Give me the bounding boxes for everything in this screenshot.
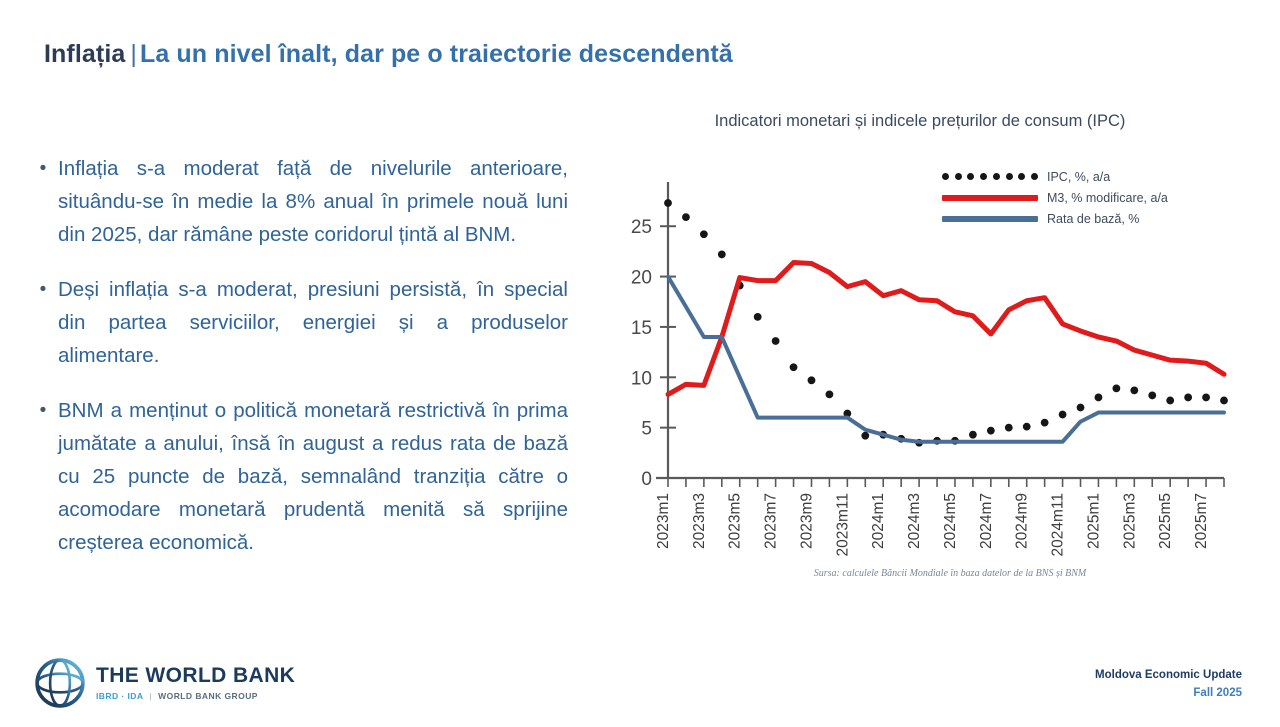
svg-text:2024m3: 2024m3 xyxy=(906,493,923,549)
footer-report-edition: Fall 2025 xyxy=(1095,685,1242,703)
footer-report-title: Moldova Economic Update xyxy=(1095,667,1242,685)
list-item: • Inflația s-a moderat față de niveluril… xyxy=(28,152,568,251)
title-rest: La un nivel înalt, dar pe o traiectorie … xyxy=(140,40,733,68)
svg-text:5: 5 xyxy=(641,419,652,440)
legend-label-policy-rate: Rata de bază, % xyxy=(1047,212,1139,226)
logo-ibrd-ida: IBRD · IDA xyxy=(96,691,143,701)
svg-text:2025m3: 2025m3 xyxy=(1121,493,1138,549)
bullet-marker-icon: • xyxy=(28,273,58,306)
svg-text:2024m1: 2024m1 xyxy=(870,493,887,549)
list-item: • Deși inflația s-a moderat, presiuni pe… xyxy=(28,273,568,372)
chart-legend: IPC, %, a/a M3, % modificare, a/a Rata d… xyxy=(942,166,1168,229)
svg-text:15: 15 xyxy=(631,318,652,339)
svg-text:2024m5: 2024m5 xyxy=(942,493,959,549)
legend-swatch-dotted-icon xyxy=(942,171,1038,182)
globe-icon xyxy=(34,657,86,709)
logo-group-label: WORLD BANK GROUP xyxy=(158,691,258,701)
svg-text:10: 10 xyxy=(631,368,652,389)
bullet-text: Inflația s-a moderat față de nivelurile … xyxy=(58,152,568,251)
svg-text:0: 0 xyxy=(641,469,652,490)
bullet-list: • Inflația s-a moderat față de niveluril… xyxy=(28,152,568,581)
legend-item-m3: M3, % modificare, a/a xyxy=(942,187,1168,208)
svg-text:2024m9: 2024m9 xyxy=(1014,493,1031,549)
title-lead: Inflația xyxy=(44,40,125,68)
svg-text:2023m11: 2023m11 xyxy=(834,493,851,556)
legend-swatch-blue-icon xyxy=(942,216,1038,222)
logo-divider: | xyxy=(149,691,152,701)
legend-item-policy-rate: Rata de bază, % xyxy=(942,208,1168,229)
chart-source-note: Sursa: calculele Băncii Mondiale în baza… xyxy=(670,568,1230,579)
svg-text:2023m3: 2023m3 xyxy=(691,493,708,549)
svg-text:20: 20 xyxy=(631,268,652,289)
page-title: Inflația|La un nivel înalt, dar pe o tra… xyxy=(44,40,733,69)
bullet-text: Deși inflația s-a moderat, presiuni pers… xyxy=(58,273,568,372)
bullet-marker-icon: • xyxy=(28,152,58,185)
legend-swatch-red-icon xyxy=(942,195,1038,201)
svg-text:2025m7: 2025m7 xyxy=(1193,493,1210,549)
svg-text:2023m1: 2023m1 xyxy=(655,493,672,549)
svg-text:2025m5: 2025m5 xyxy=(1157,493,1174,549)
logo-wordmark: THE WORLD BANK xyxy=(96,665,295,687)
slide: Inflația|La un nivel înalt, dar pe o tra… xyxy=(0,0,1280,727)
svg-text:2023m9: 2023m9 xyxy=(798,493,815,549)
svg-text:25: 25 xyxy=(631,217,652,238)
svg-text:2025m1: 2025m1 xyxy=(1085,493,1102,549)
bullet-text: BNM a menținut o politică monetară restr… xyxy=(58,394,568,559)
legend-label-m3: M3, % modificare, a/a xyxy=(1047,191,1168,205)
svg-text:2023m7: 2023m7 xyxy=(763,493,780,549)
bullet-marker-icon: • xyxy=(28,394,58,427)
chart-title: Indicatori monetari și indicele prețuril… xyxy=(610,112,1230,131)
title-separator: | xyxy=(130,40,137,68)
svg-text:2024m11: 2024m11 xyxy=(1050,493,1067,556)
svg-text:2024m7: 2024m7 xyxy=(978,493,995,549)
svg-text:2023m5: 2023m5 xyxy=(727,493,744,549)
chart-panel: Indicatori monetari și indicele prețuril… xyxy=(610,112,1250,592)
list-item: • BNM a menținut o politică monetară res… xyxy=(28,394,568,559)
legend-item-ipc: IPC, %, a/a xyxy=(942,166,1168,187)
legend-label-ipc: IPC, %, a/a xyxy=(1047,170,1110,184)
world-bank-logo: THE WORLD BANK IBRD · IDA | WORLD BANK G… xyxy=(34,657,295,709)
footer-report-info: Moldova Economic Update Fall 2025 xyxy=(1095,667,1242,703)
